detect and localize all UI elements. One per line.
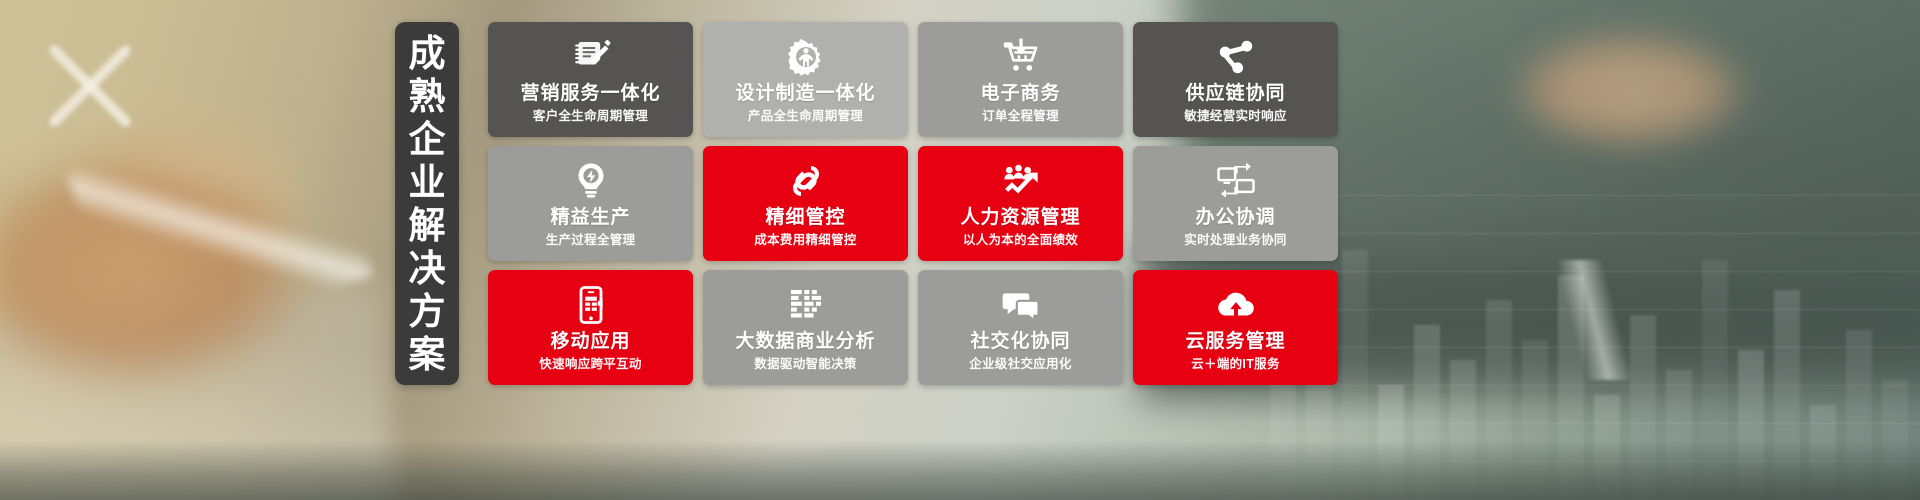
card-title: 人力资源管理 (960, 207, 1080, 229)
screens-sync-icon (1216, 159, 1256, 201)
chat-bubbles-icon (1001, 283, 1041, 325)
card-title: 云服务管理 (1185, 331, 1285, 353)
solution-card[interactable]: 办公协调实时处理业务协同 (1133, 146, 1338, 261)
headline-char: 方 (409, 290, 446, 333)
solution-card[interactable]: 移动应用快速响应跨平互动 (488, 270, 693, 385)
headline-char: 解 (409, 204, 446, 247)
headline-char: 业 (409, 161, 446, 204)
solution-card[interactable]: 人力资源管理以人为本的全面绩效 (918, 146, 1123, 261)
card-subtitle: 云＋端的IT服务 (1191, 356, 1280, 373)
card-subtitle: 产品全生命周期管理 (748, 108, 863, 125)
card-subtitle: 企业级社交应用化 (969, 356, 1071, 373)
solution-card[interactable]: 营销服务一体化客户全生命周期管理 (488, 22, 693, 137)
gear-person-icon (786, 35, 826, 77)
card-title: 移动应用 (550, 331, 630, 353)
card-subtitle: 生产过程全管理 (546, 232, 636, 249)
solution-card[interactable]: 云服务管理云＋端的IT服务 (1133, 270, 1338, 385)
card-title: 营销服务一体化 (520, 83, 660, 105)
solution-card[interactable]: 设计制造一体化产品全生命周期管理 (703, 22, 908, 137)
vertical-headline-panel: 成熟企业解决方案 (395, 22, 459, 385)
bar-data-icon (786, 283, 826, 325)
solution-card-grid: 营销服务一体化客户全生命周期管理设计制造一体化产品全生命周期管理电子商务订单全程… (488, 22, 1338, 385)
people-growth-arrow-icon (1001, 159, 1041, 201)
banner-stage: 成熟企业解决方案 营销服务一体化客户全生命周期管理设计制造一体化产品全生命周期管… (0, 0, 1920, 500)
solution-card[interactable]: 电子商务订单全程管理 (918, 22, 1123, 137)
card-title: 供应链协同 (1185, 83, 1285, 105)
headline-char: 决 (409, 247, 446, 290)
solution-card[interactable]: 社交化协同企业级社交应用化 (918, 270, 1123, 385)
card-title: 精益生产 (550, 207, 630, 229)
card-subtitle: 敏捷经营实时响应 (1184, 108, 1286, 125)
card-title: 大数据商业分析 (735, 331, 875, 353)
card-subtitle: 数据驱动智能决策 (754, 356, 856, 373)
card-subtitle: 成本费用精细管控 (754, 232, 856, 249)
cloud-upload-icon (1216, 283, 1256, 325)
card-title: 电子商务 (980, 83, 1060, 105)
lightbulb-bolt-icon (571, 159, 611, 201)
card-title: 精细管控 (765, 207, 845, 229)
headline-char: 案 (409, 333, 446, 376)
card-subtitle: 快速响应跨平互动 (539, 356, 641, 373)
card-title: 设计制造一体化 (735, 83, 875, 105)
mobile-phone-icon (571, 283, 611, 325)
card-subtitle: 客户全生命周期管理 (533, 108, 648, 125)
headline-char: 成 (409, 32, 446, 75)
solution-card[interactable]: 精益生产生产过程全管理 (488, 146, 693, 261)
notepad-pencil-icon (571, 35, 611, 77)
card-title: 社交化协同 (970, 331, 1070, 353)
chain-link-icon (786, 159, 826, 201)
shopping-cart-download-icon (1001, 35, 1041, 77)
network-share-icon (1216, 35, 1256, 77)
card-subtitle: 订单全程管理 (982, 108, 1059, 125)
solution-card[interactable]: 大数据商业分析数据驱动智能决策 (703, 270, 908, 385)
headline-char: 企 (409, 118, 446, 161)
background-bottom-shade (0, 440, 1920, 500)
solution-card[interactable]: 供应链协同敏捷经营实时响应 (1133, 22, 1338, 137)
card-title: 办公协调 (1195, 207, 1275, 229)
solution-card[interactable]: 精细管控成本费用精细管控 (703, 146, 908, 261)
card-subtitle: 实时处理业务协同 (1184, 232, 1286, 249)
headline-char: 熟 (409, 75, 446, 118)
card-subtitle: 以人为本的全面绩效 (963, 232, 1078, 249)
